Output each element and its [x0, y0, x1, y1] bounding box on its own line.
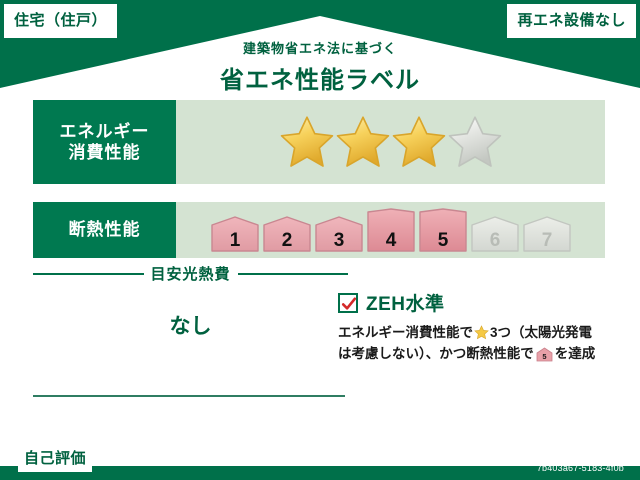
star-icon: [474, 325, 489, 340]
star-empty-icon: [447, 114, 503, 170]
energy-performance-row: エネルギー 消費性能: [33, 100, 605, 184]
star-rating: [279, 114, 503, 170]
building-name: 4351札幌市北野6期1棟1号棟: [97, 448, 278, 468]
insulation-level-number: 6: [489, 230, 500, 251]
page-title: 建築物省エネ法に基づく 省エネ性能ラベル: [0, 38, 640, 95]
energy-label-line1: エネルギー: [60, 121, 150, 142]
energy-performance-label: 住宅（住戸） 再エネ設備なし 建築物省エネ法に基づく 省エネ性能ラベル エネルギ…: [0, 0, 640, 480]
zeh-desc-part3: を達成: [555, 346, 596, 361]
footer-right-group: 評価日 2025年6月26日 7b403a67-5183-4f0b: [477, 442, 624, 473]
insulation-performance-row: 断熱性能 1234567: [33, 202, 605, 258]
utility-cost-heading-text: 目安光熱費: [151, 263, 231, 284]
insulation-level-empty: 6: [470, 207, 520, 253]
cost-section-divider: [33, 395, 345, 397]
zeh-desc-part1: エネルギー消費性能で: [338, 325, 473, 340]
badge-renewable-energy: 再エネ設備なし: [507, 4, 636, 38]
insulation-level-filled: 5: [418, 207, 468, 253]
badge-building-type: 住宅（住戸）: [4, 4, 117, 38]
zeh-desc-stars: 3つ（太陽光発電: [490, 325, 592, 340]
zeh-description: エネルギー消費性能で3つ（太陽光発電は考慮しない）、かつ断熱性能で5を達成: [338, 323, 610, 369]
insulation-level-filled: 3: [314, 207, 364, 253]
insulation-level-scale: 1234567: [210, 207, 572, 253]
self-evaluation-badge: 自己評価: [18, 444, 92, 472]
star-filled-icon: [391, 114, 447, 170]
zeh-heading: ZEH水準: [338, 289, 610, 316]
energy-performance-label: エネルギー 消費性能: [33, 100, 176, 184]
insulation-level-number: 5: [437, 230, 448, 251]
cost-rule-left: [33, 273, 144, 275]
utility-cost-value: なし: [33, 310, 348, 340]
insulation-level-number: 1: [229, 230, 240, 251]
title-subtitle: 建築物省エネ法に基づく: [0, 38, 640, 57]
evaluation-id: 7b403a67-5183-4f0b: [477, 463, 624, 473]
check-icon: [341, 296, 357, 312]
star-filled-icon: [335, 114, 391, 170]
svg-text:5: 5: [542, 352, 546, 361]
insulation-level-filled: 1: [210, 207, 260, 253]
zeh-title: ZEH水準: [366, 289, 445, 316]
insulation-level-number: 4: [385, 230, 396, 251]
insulation-level-number: 3: [333, 230, 344, 251]
insulation-label-text: 断熱性能: [69, 219, 141, 240]
label-footer: 自己評価 4351札幌市北野6期1棟1号棟 評価日 2025年6月26日 7b4…: [0, 436, 640, 480]
cost-rule-right: [238, 273, 349, 275]
title-main: 省エネ性能ラベル: [0, 60, 640, 95]
zeh-checkbox[interactable]: [338, 293, 358, 313]
zeh-desc-part2: は考慮しない）、かつ断熱性能で: [338, 346, 534, 361]
insulation-level-filled: 4: [366, 207, 416, 253]
insulation-level-number: 7: [541, 230, 552, 251]
insulation-performance-value: 1234567: [176, 202, 605, 258]
insulation-level-empty: 7: [522, 207, 572, 253]
footer-left-group: 自己評価 4351札幌市北野6期1棟1号棟: [18, 444, 278, 472]
insulation-level-number: 2: [281, 230, 292, 251]
insulation-performance-label: 断熱性能: [33, 202, 176, 258]
energy-performance-value: [176, 100, 605, 184]
evaluation-date: 評価日 2025年6月26日: [477, 442, 624, 462]
utility-cost-heading: 目安光熱費: [33, 263, 348, 284]
zeh-section: ZEH水準 エネルギー消費性能で3つ（太陽光発電は考慮しない）、かつ断熱性能で5…: [338, 289, 610, 369]
star-filled-icon: [279, 114, 335, 170]
energy-label-line2: 消費性能: [69, 142, 141, 163]
insulation-level-filled: 2: [262, 207, 312, 253]
house-level-icon: 5: [536, 350, 553, 365]
